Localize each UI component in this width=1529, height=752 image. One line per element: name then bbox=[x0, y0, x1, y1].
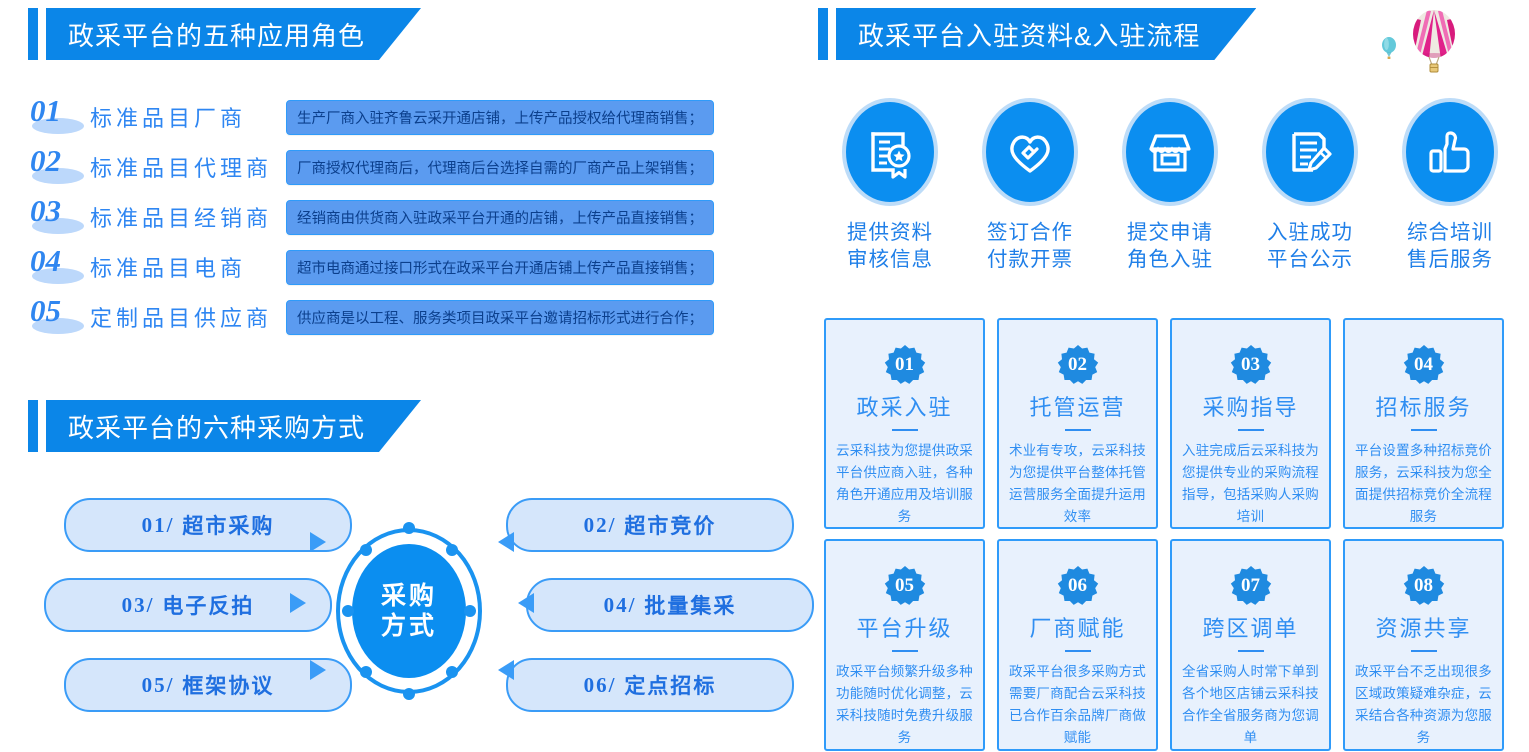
card-title: 托管运营 bbox=[1029, 390, 1125, 422]
hub-label-line1: 采购 bbox=[381, 581, 437, 612]
card-number: 02 bbox=[1068, 354, 1087, 376]
flow-step-circle bbox=[1122, 98, 1218, 206]
banner-plate: 政采平台的五种应用角色 bbox=[46, 8, 421, 60]
card-title: 采购指导 bbox=[1202, 390, 1298, 422]
storefront-icon bbox=[1143, 125, 1197, 179]
hub-node-dot bbox=[446, 544, 458, 556]
card-title: 平台升级 bbox=[856, 611, 952, 643]
role-description-pill: 供应商是以工程、服务类项目政采平台邀请招标形式进行合作； bbox=[286, 300, 714, 335]
hub-node-dot bbox=[342, 605, 354, 617]
card-title: 政采入驻 bbox=[856, 390, 952, 422]
role-number: 03 bbox=[30, 193, 61, 229]
thumbs-up-icon bbox=[1423, 125, 1477, 179]
role-number-badge: 04 bbox=[28, 245, 90, 289]
card-number-badge: 03 bbox=[1230, 344, 1272, 386]
role-description-pill: 厂商授权代理商后，代理商后台选择自需的厂商产品上架销售； bbox=[286, 150, 714, 185]
method-bubble-tail bbox=[290, 593, 306, 613]
role-row: 02 标准品目代理商 厂商授权代理商后，代理商后台选择自需的厂商产品上架销售； bbox=[28, 142, 788, 192]
role-number-badge: 01 bbox=[28, 95, 90, 139]
flow-step-circle bbox=[1402, 98, 1498, 206]
flow-label-line2: 审核信息 bbox=[847, 246, 933, 273]
card-number-badge: 07 bbox=[1230, 565, 1272, 607]
method-number: 02/ bbox=[584, 513, 617, 538]
flow-step[interactable]: 签订合作 付款开票 bbox=[960, 98, 1100, 288]
role-description-pill: 超市电商通过接口形式在政采平台开通店铺上传产品直接销售； bbox=[286, 250, 714, 285]
method-bubble-02[interactable]: 02/ 超市竞价 bbox=[506, 498, 794, 552]
service-card[interactable]: 02 托管运营 术业有专攻，云采科技为您提供平台整体托管运营服务全面提升运用效率 bbox=[997, 318, 1158, 529]
banner-tick bbox=[818, 8, 828, 60]
certificate-icon bbox=[863, 125, 917, 179]
method-bubble-06[interactable]: 06/ 定点招标 bbox=[506, 658, 794, 712]
role-description-pill: 生产厂商入驻齐鲁云采开通店铺，上传产品授权给代理商销售； bbox=[286, 100, 714, 135]
role-row: 03 标准品目经销商 经销商由供货商入驻政采平台开通的店铺，上传产品直接销售； bbox=[28, 192, 788, 242]
wheel-hub: 采购 方式 bbox=[336, 528, 482, 694]
handshake-heart-icon bbox=[1003, 125, 1057, 179]
method-label: 批量集采 bbox=[644, 590, 736, 620]
hub-node-dot bbox=[403, 688, 415, 700]
method-number: 05/ bbox=[142, 673, 175, 698]
banner-gap bbox=[828, 8, 836, 60]
card-number-badge: 01 bbox=[884, 344, 926, 386]
card-divider bbox=[1411, 429, 1437, 431]
card-number-badge: 02 bbox=[1057, 344, 1099, 386]
role-name: 标准品目厂商 bbox=[90, 101, 286, 133]
method-bubble-01[interactable]: 01/ 超市采购 bbox=[64, 498, 352, 552]
hub-node-dot bbox=[360, 544, 372, 556]
method-bubble-03[interactable]: 03/ 电子反拍 bbox=[44, 578, 332, 632]
procurement-methods-wheel: 01/ 超市采购 02/ 超市竞价 03/ 电子反拍 04/ 批量集采 05/ … bbox=[20, 470, 800, 730]
role-name: 标准品目经销商 bbox=[90, 201, 286, 233]
hot-air-balloon-icon bbox=[1405, 8, 1463, 80]
method-label: 定点招标 bbox=[624, 670, 716, 700]
card-number: 01 bbox=[895, 354, 914, 376]
banner-gap bbox=[38, 400, 46, 452]
method-bubble-tail bbox=[310, 660, 326, 680]
card-title: 跨区调单 bbox=[1202, 611, 1298, 643]
role-row: 05 定制品目供应商 供应商是以工程、服务类项目政采平台邀请招标形式进行合作； bbox=[28, 292, 788, 342]
card-body: 云采科技为您提供政采平台供应商入驻，各种角色开通应用及培训服务 bbox=[826, 440, 983, 527]
flow-step[interactable]: 提交申请 角色入驻 bbox=[1100, 98, 1240, 288]
card-body: 术业有专攻，云采科技为您提供平台整体托管运营服务全面提升运用效率 bbox=[999, 440, 1156, 527]
card-divider bbox=[1238, 650, 1264, 652]
role-name: 标准品目电商 bbox=[90, 251, 286, 283]
flow-step[interactable]: 入驻成功 平台公示 bbox=[1240, 98, 1380, 288]
hub-node-dot bbox=[360, 666, 372, 678]
flow-step-label: 综合培训 售后服务 bbox=[1407, 219, 1493, 274]
flow-step-circle bbox=[982, 98, 1078, 206]
role-number: 05 bbox=[30, 293, 61, 329]
flow-step-label: 签订合作 付款开票 bbox=[987, 219, 1073, 274]
card-number: 06 bbox=[1068, 575, 1087, 597]
role-description-pill: 经销商由供货商入驻政采平台开通的店铺，上传产品直接销售； bbox=[286, 200, 714, 235]
onboarding-header-title: 政采平台入驻资料&入驻流程 bbox=[858, 16, 1200, 53]
card-number: 03 bbox=[1241, 354, 1260, 376]
card-number: 05 bbox=[895, 575, 914, 597]
flow-step-label: 入驻成功 平台公示 bbox=[1267, 219, 1353, 274]
flow-step-circle bbox=[1262, 98, 1358, 206]
card-body: 入驻完成后云采科技为您提供专业的采购流程指导，包括采购人采购培训 bbox=[1172, 440, 1329, 527]
hub-node-dot bbox=[403, 522, 415, 534]
service-card[interactable]: 08 资源共享 政采平台不乏出现很多区域政策疑难杂症，云采结合各种资源为您服务 bbox=[1343, 539, 1504, 750]
small-balloon-icon bbox=[1379, 36, 1399, 62]
card-body: 政采平台不乏出现很多区域政策疑难杂症，云采结合各种资源为您服务 bbox=[1345, 661, 1502, 748]
flow-label-line1: 提供资料 bbox=[847, 219, 933, 246]
flow-step-label: 提供资料 审核信息 bbox=[847, 219, 933, 274]
method-bubble-tail bbox=[498, 660, 514, 680]
infographic-page: 政采平台的五种应用角色 01 标准品目厂商 生产厂商入驻齐鲁云采开通店铺，上传产… bbox=[0, 0, 1529, 752]
flow-label-line2: 角色入驻 bbox=[1127, 246, 1213, 273]
card-title: 厂商赋能 bbox=[1029, 611, 1125, 643]
card-divider bbox=[1238, 429, 1264, 431]
onboarding-flow: 提供资料 审核信息 签订合作 付款开票 bbox=[820, 98, 1520, 288]
flow-label-line1: 综合培训 bbox=[1407, 219, 1493, 246]
role-number-badge: 05 bbox=[28, 295, 90, 339]
role-name: 标准品目代理商 bbox=[90, 151, 286, 183]
card-number-badge: 06 bbox=[1057, 565, 1099, 607]
card-number-badge: 05 bbox=[884, 565, 926, 607]
roles-section-banner: 政采平台的五种应用角色 bbox=[28, 8, 421, 60]
onboarding-section-banner: 政采平台入驻资料&入驻流程 bbox=[818, 8, 1256, 60]
method-number: 01/ bbox=[142, 513, 175, 538]
role-number: 01 bbox=[30, 93, 61, 129]
hub-node-dot bbox=[446, 666, 458, 678]
method-bubble-tail bbox=[310, 532, 326, 552]
method-label: 超市竞价 bbox=[624, 510, 716, 540]
card-title: 资源共享 bbox=[1375, 611, 1471, 643]
document-edit-icon bbox=[1283, 125, 1337, 179]
service-card[interactable]: 01 政采入驻 云采科技为您提供政采平台供应商入驻，各种角色开通应用及培训服务 bbox=[824, 318, 985, 529]
card-body: 平台设置多种招标竞价服务，云采科技为您全面提供招标竞价全流程服务 bbox=[1345, 440, 1502, 527]
card-divider bbox=[1065, 429, 1091, 431]
method-bubble-05[interactable]: 05/ 框架协议 bbox=[64, 658, 352, 712]
method-number: 04/ bbox=[604, 593, 637, 618]
flow-step[interactable]: 提供资料 审核信息 bbox=[820, 98, 960, 288]
card-body: 全省采购人时常下单到各个地区店铺云采科技合作全省服务商为您调单 bbox=[1172, 661, 1329, 748]
banner-gap bbox=[38, 8, 46, 60]
hub-core: 采购 方式 bbox=[352, 544, 466, 678]
flow-label-line2: 平台公示 bbox=[1267, 246, 1353, 273]
card-divider bbox=[892, 429, 918, 431]
banner-tick bbox=[28, 400, 38, 452]
service-card[interactable]: 06 厂商赋能 政采平台很多采购方式需要厂商配合云采科技已合作百余品牌厂商做赋能 bbox=[997, 539, 1158, 750]
method-label: 框架协议 bbox=[182, 670, 274, 700]
method-number: 06/ bbox=[584, 673, 617, 698]
service-card[interactable]: 03 采购指导 入驻完成后云采科技为您提供专业的采购流程指导，包括采购人采购培训 bbox=[1170, 318, 1331, 529]
flow-label-line2: 付款开票 bbox=[987, 246, 1073, 273]
method-number: 03/ bbox=[122, 593, 155, 618]
method-bubble-tail bbox=[518, 593, 534, 613]
methods-section-banner: 政采平台的六种采购方式 bbox=[28, 400, 421, 452]
flow-step[interactable]: 综合培训 售后服务 bbox=[1380, 98, 1520, 288]
flow-label-line1: 入驻成功 bbox=[1267, 219, 1353, 246]
service-card[interactable]: 07 跨区调单 全省采购人时常下单到各个地区店铺云采科技合作全省服务商为您调单 bbox=[1170, 539, 1331, 750]
roles-list: 01 标准品目厂商 生产厂商入驻齐鲁云采开通店铺，上传产品授权给代理商销售； 0… bbox=[28, 92, 788, 342]
role-number: 04 bbox=[30, 243, 61, 279]
banner-plate: 政采平台入驻资料&入驻流程 bbox=[836, 8, 1256, 60]
card-divider bbox=[1065, 650, 1091, 652]
card-title: 招标服务 bbox=[1375, 390, 1471, 422]
role-number-badge: 03 bbox=[28, 195, 90, 239]
flow-label-line1: 签订合作 bbox=[987, 219, 1073, 246]
hub-node-dot bbox=[464, 605, 476, 617]
card-divider bbox=[1411, 650, 1437, 652]
method-bubble-tail bbox=[498, 532, 514, 552]
role-row: 04 标准品目电商 超市电商通过接口形式在政采平台开通店铺上传产品直接销售； bbox=[28, 242, 788, 292]
method-label: 超市采购 bbox=[182, 510, 274, 540]
card-number-badge: 08 bbox=[1403, 565, 1445, 607]
flow-step-label: 提交申请 角色入驻 bbox=[1127, 219, 1213, 274]
flow-step-circle bbox=[842, 98, 938, 206]
banner-plate: 政采平台的六种采购方式 bbox=[46, 400, 421, 452]
roles-header-title: 政采平台的五种应用角色 bbox=[68, 16, 365, 53]
card-number: 07 bbox=[1241, 575, 1260, 597]
service-cards-grid: 01 政采入驻 云采科技为您提供政采平台供应商入驻，各种角色开通应用及培训服务 … bbox=[824, 318, 1504, 744]
method-bubble-04[interactable]: 04/ 批量集采 bbox=[526, 578, 814, 632]
card-number: 04 bbox=[1414, 354, 1433, 376]
flow-label-line1: 提交申请 bbox=[1127, 219, 1213, 246]
service-card[interactable]: 04 招标服务 平台设置多种招标竞价服务，云采科技为您全面提供招标竞价全流程服务 bbox=[1343, 318, 1504, 529]
card-body: 政采平台很多采购方式需要厂商配合云采科技已合作百余品牌厂商做赋能 bbox=[999, 661, 1156, 748]
hub-label-line2: 方式 bbox=[381, 611, 437, 642]
role-number: 02 bbox=[30, 143, 61, 179]
flow-label-line2: 售后服务 bbox=[1407, 246, 1493, 273]
role-row: 01 标准品目厂商 生产厂商入驻齐鲁云采开通店铺，上传产品授权给代理商销售； bbox=[28, 92, 788, 142]
card-number: 08 bbox=[1414, 575, 1433, 597]
service-card[interactable]: 05 平台升级 政采平台频繁升级多种功能随时优化调整，云采科技随时免费升级服务 bbox=[824, 539, 985, 750]
card-body: 政采平台频繁升级多种功能随时优化调整，云采科技随时免费升级服务 bbox=[826, 661, 983, 748]
role-number-badge: 02 bbox=[28, 145, 90, 189]
banner-tick bbox=[28, 8, 38, 60]
card-number-badge: 04 bbox=[1403, 344, 1445, 386]
card-divider bbox=[892, 650, 918, 652]
role-name: 定制品目供应商 bbox=[90, 301, 286, 333]
methods-header-title: 政采平台的六种采购方式 bbox=[68, 408, 365, 445]
method-label: 电子反拍 bbox=[162, 590, 254, 620]
